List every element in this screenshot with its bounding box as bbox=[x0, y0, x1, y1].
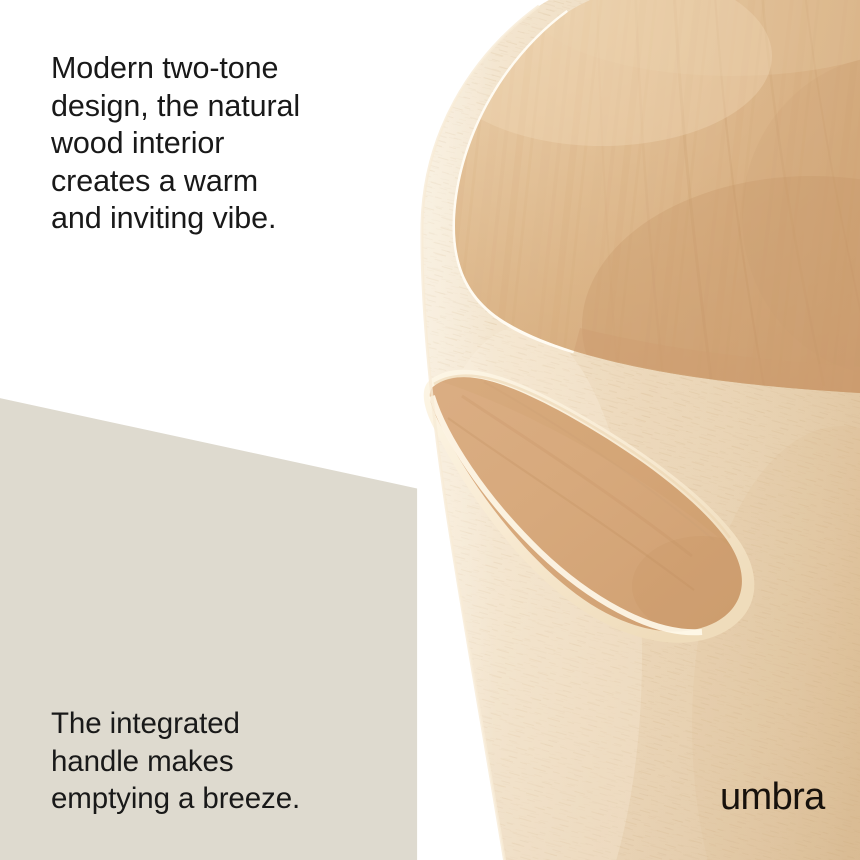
wooden-waste-can bbox=[372, 0, 860, 860]
feature-copy-bottom: The integrated handle makes emptying a b… bbox=[51, 705, 300, 818]
feature-copy-top: Modern two-tone design, the natural wood… bbox=[51, 50, 300, 238]
product-feature-image: Modern two-tone design, the natural wood… bbox=[0, 0, 860, 860]
umbra-brand-logo: umbra bbox=[720, 778, 825, 816]
